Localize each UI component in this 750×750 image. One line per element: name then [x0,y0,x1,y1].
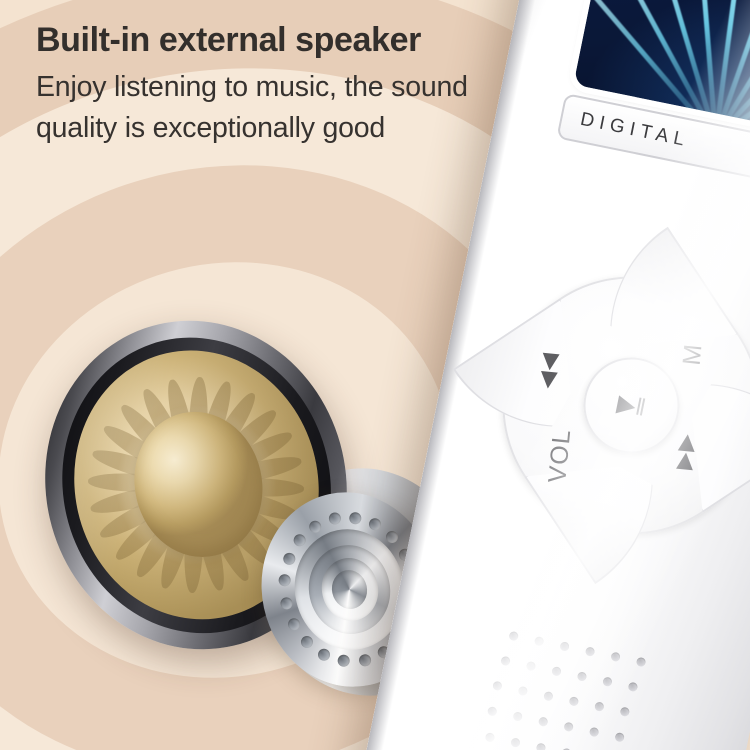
copy-block: Built-in external speaker Enjoy listenin… [36,20,596,148]
page-title: Built-in external speaker [36,20,596,60]
page-subtitle: Enjoy listening to music, the sound qual… [36,67,541,148]
product-banner: Built-in external speaker Enjoy listenin… [0,0,750,750]
